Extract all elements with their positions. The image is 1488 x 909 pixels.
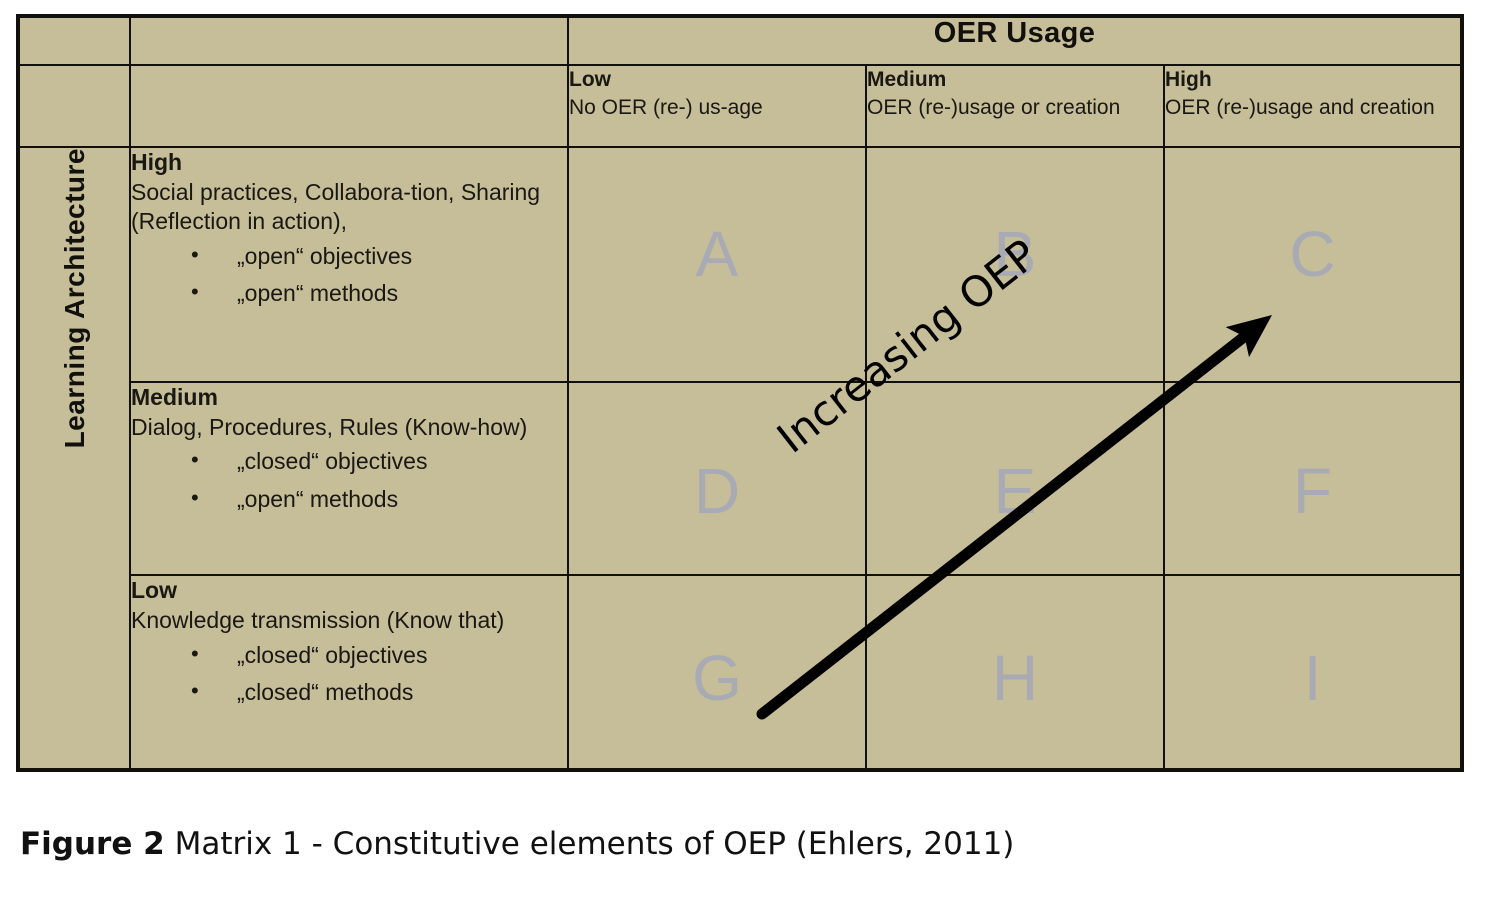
matrix-cell-G: G — [568, 575, 866, 770]
row-header-high-desc: Social practices, Collabora-tion, Sharin… — [131, 178, 567, 237]
list-item: „open“ methods — [191, 481, 567, 518]
matrix-cell-letter: A — [569, 222, 865, 286]
list-item: „open“ objectives — [191, 238, 567, 275]
row-header-medium-title: Medium — [131, 383, 567, 413]
matrix-cell-C: C — [1164, 147, 1462, 382]
column-header-high: High OER (re-)usage and creation — [1164, 65, 1462, 147]
matrix-figure: OER Usage Low No OER (re-) us-age Medium… — [16, 14, 1448, 772]
matrix-row-high: Learning Architecture High Social practi… — [18, 147, 1462, 382]
matrix-cell-letter: E — [867, 459, 1163, 523]
matrix-row-medium: Medium Dialog, Procedures, Rules (Know-h… — [18, 382, 1462, 575]
corner-blank-left — [18, 16, 130, 65]
column-header-medium-desc: OER (re-)usage or creation — [867, 94, 1163, 122]
matrix-cell-B: B — [866, 147, 1164, 382]
matrix-cell-letter: I — [1165, 646, 1460, 710]
row-header-low-bullets: „closed“ objectives „closed“ methods — [131, 637, 567, 712]
column-axis-title: OER Usage — [568, 16, 1462, 65]
figure-caption: Figure 2 Matrix 1 - Constitutive element… — [20, 826, 1014, 862]
table-header-row-title: OER Usage — [18, 16, 1462, 65]
column-header-low-desc: No OER (re-) us-age — [569, 94, 865, 122]
column-header-medium-title: Medium — [867, 66, 1163, 94]
list-item: „open“ methods — [191, 275, 567, 312]
corner-blank-right-2 — [130, 65, 568, 147]
row-header-low-title: Low — [131, 576, 567, 606]
row-axis-title-cell: Learning Architecture — [18, 147, 130, 770]
row-header-medium: Medium Dialog, Procedures, Rules (Know-h… — [130, 382, 568, 575]
matrix-row-low: Low Knowledge transmission (Know that) „… — [18, 575, 1462, 770]
matrix-cell-F: F — [1164, 382, 1462, 575]
matrix-cell-E: E — [866, 382, 1164, 575]
matrix-cell-letter: B — [867, 222, 1163, 286]
row-header-high-title: High — [131, 148, 567, 178]
row-header-medium-bullets: „closed“ objectives „open“ methods — [131, 443, 567, 518]
row-header-low: Low Knowledge transmission (Know that) „… — [130, 575, 568, 770]
figure-caption-text: Matrix 1 - Constitutive elements of OEP … — [165, 826, 1015, 862]
row-header-high: High Social practices, Collabora-tion, S… — [130, 147, 568, 382]
matrix-cell-letter: D — [569, 459, 865, 523]
matrix-cell-A: A — [568, 147, 866, 382]
matrix-cell-letter: C — [1165, 222, 1460, 286]
row-axis-title: Learning Architecture — [59, 148, 91, 448]
matrix-cell-letter: G — [569, 646, 865, 710]
row-header-high-bullets: „open“ objectives „open“ methods — [131, 238, 567, 313]
oep-matrix-table: OER Usage Low No OER (re-) us-age Medium… — [16, 14, 1464, 772]
row-header-low-desc: Knowledge transmission (Know that) — [131, 606, 567, 636]
figure-caption-label: Figure 2 — [20, 826, 165, 862]
matrix-cell-letter: H — [867, 646, 1163, 710]
corner-blank-right — [130, 16, 568, 65]
corner-blank-left-2 — [18, 65, 130, 147]
matrix-cell-I: I — [1164, 575, 1462, 770]
matrix-cell-H: H — [866, 575, 1164, 770]
column-header-low-title: Low — [569, 66, 865, 94]
matrix-cell-D: D — [568, 382, 866, 575]
column-header-high-desc: OER (re-)usage and creation — [1165, 94, 1460, 122]
matrix-cell-letter: F — [1165, 459, 1460, 523]
column-header-low: Low No OER (re-) us-age — [568, 65, 866, 147]
list-item: „closed“ methods — [191, 674, 567, 711]
column-header-medium: Medium OER (re-)usage or creation — [866, 65, 1164, 147]
row-header-medium-desc: Dialog, Procedures, Rules (Know-how) — [131, 413, 567, 443]
list-item: „closed“ objectives — [191, 637, 567, 674]
list-item: „closed“ objectives — [191, 443, 567, 480]
column-header-high-title: High — [1165, 66, 1460, 94]
table-header-row-columns: Low No OER (re-) us-age Medium OER (re-)… — [18, 65, 1462, 147]
